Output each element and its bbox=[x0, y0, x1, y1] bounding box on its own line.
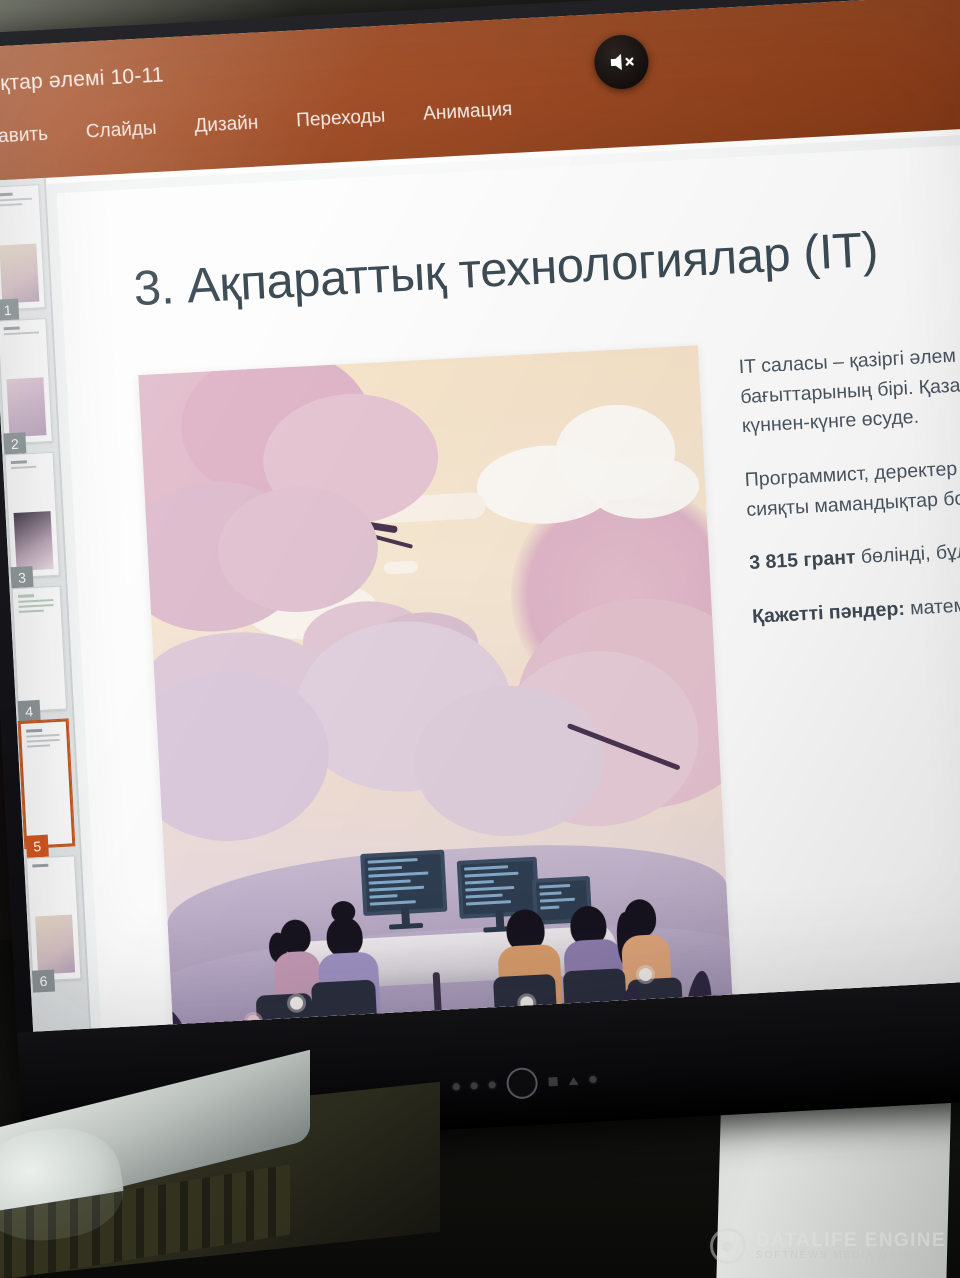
monitor-button-square[interactable] bbox=[548, 1077, 557, 1086]
slide-body-text: IT саласы – қазіргі әлем бағыттарының бі… bbox=[738, 331, 960, 656]
watermark: DATALIFE ENGINE SOFTNEWS MEDIA GROUP bbox=[710, 1228, 946, 1264]
paragraph-4: Қажетті пәндер: математи bbox=[751, 580, 960, 632]
monitor-button-triangle[interactable] bbox=[568, 1076, 578, 1085]
menu-item-slides[interactable]: Слайды bbox=[85, 118, 157, 144]
watermark-title: DATALIFE ENGINE bbox=[756, 1231, 946, 1251]
watermark-subtitle: SOFTNEWS MEDIA GROUP bbox=[756, 1251, 946, 1262]
monitor-button-dot[interactable] bbox=[453, 1083, 460, 1090]
slide-number: 4 bbox=[18, 700, 41, 723]
slide-number: 2 bbox=[3, 432, 26, 455]
menu-item-design[interactable]: Дизайн bbox=[194, 112, 259, 137]
slide-thumbnail-3[interactable]: 3 bbox=[4, 452, 60, 578]
illustration-monitor-1 bbox=[360, 850, 447, 916]
screen: ндықтар әлемі 10-11 Вставить Слайды Диза… bbox=[0, 0, 960, 1032]
monitor-power-button[interactable] bbox=[506, 1067, 539, 1100]
page-title: 3. Ақпараттық технологиялар (IT) bbox=[132, 222, 879, 318]
slide-thumbnail-4[interactable]: 4 bbox=[12, 586, 68, 712]
slide-number: 6 bbox=[32, 970, 55, 993]
menu-item-insert[interactable]: Вставить bbox=[0, 124, 49, 150]
slide-thumbnail-6[interactable]: 6 bbox=[26, 855, 82, 981]
datalife-logo-icon bbox=[710, 1228, 746, 1264]
slide-number: 3 bbox=[10, 566, 33, 589]
photo-scene: ндықтар әлемі 10-11 Вставить Слайды Диза… bbox=[0, 0, 960, 1278]
paragraph-1: IT саласы – қазіргі әлем бағыттарының бі… bbox=[738, 331, 960, 442]
slide-thumbnail-2[interactable]: 2 bbox=[0, 318, 53, 444]
monitor: ндықтар әлемі 10-11 Вставить Слайды Диза… bbox=[0, 0, 960, 1152]
slide-thumbnail-5[interactable]: 5 bbox=[19, 719, 75, 847]
slide-number-active: 5 bbox=[26, 835, 49, 858]
monitor-button-dot[interactable] bbox=[589, 1076, 596, 1083]
current-slide[interactable]: 3. Ақпараттық технологиялар (IT) bbox=[57, 137, 960, 1032]
slide-number: 1 bbox=[0, 298, 19, 321]
paragraph-3: 3 815 грант бөлінді, бұл жа bbox=[749, 527, 960, 579]
slide-illustration[interactable] bbox=[138, 345, 736, 1031]
paragraph-2: Программист, деректер а сияқты мамандықт… bbox=[744, 444, 960, 526]
monitor-button-dot[interactable] bbox=[471, 1082, 478, 1089]
slide-thumbnail-1[interactable]: 1 bbox=[0, 184, 46, 310]
monitor-button-dot[interactable] bbox=[488, 1081, 495, 1088]
slide-canvas[interactable]: 3. Ақпараттық технологиялар (IT) bbox=[46, 133, 960, 1029]
